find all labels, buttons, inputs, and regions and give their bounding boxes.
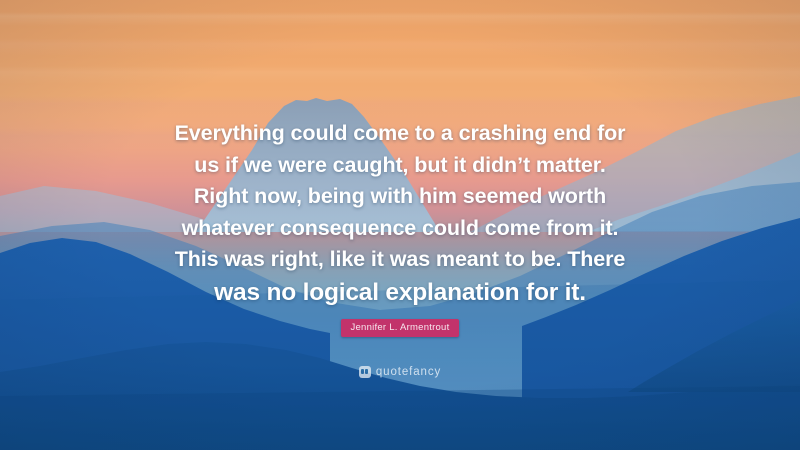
- quote-line: us if we were caught, but it didn’t matt…: [96, 150, 704, 182]
- quote-poster: Everything could come to a crashing end …: [0, 0, 800, 450]
- brand-row: quotefancy: [0, 365, 800, 383]
- attribution-row: Jennifer L. Armentrout: [0, 317, 800, 337]
- quote-line: Right now, being with him seemed worth: [96, 181, 704, 213]
- quote-mark-icon: [359, 366, 371, 378]
- quote-line: whatever consequence could come from it.: [96, 213, 704, 245]
- quote-line: This was right, like it was meant to be.…: [96, 244, 704, 276]
- quote-line: Everything could come to a crashing end …: [96, 118, 704, 150]
- author-badge[interactable]: Jennifer L. Armentrout: [341, 319, 460, 338]
- brand-name: quotefancy: [376, 366, 441, 378]
- quote-line-emphasized: was no logical explanation for it.: [96, 276, 704, 309]
- quote-block: Everything could come to a crashing end …: [0, 118, 800, 309]
- brand-logo[interactable]: quotefancy: [359, 366, 441, 378]
